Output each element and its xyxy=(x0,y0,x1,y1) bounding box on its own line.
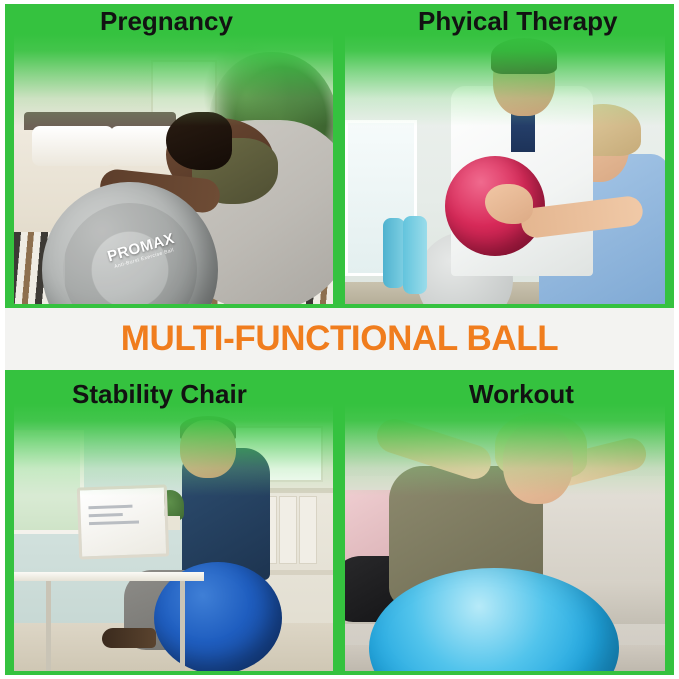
panel-pregnancy: PROMAX Anti-Burst Exercise Ball xyxy=(14,34,333,304)
desk-leg xyxy=(46,581,51,671)
desk-leg xyxy=(180,581,185,671)
product-infographic: PROMAX Anti-Burst Exercise Ball M xyxy=(0,0,679,679)
green-gradient-overlay xyxy=(345,34,665,126)
binder-icon xyxy=(279,496,297,564)
panel-stability-chair: PROMAX Anti-Burst Exercise Ball xyxy=(14,404,333,671)
screen-text-line xyxy=(88,505,132,510)
banner-title: MULTI-FUNCTIONAL BALL xyxy=(121,319,558,359)
green-gradient-overlay xyxy=(345,404,665,496)
man-shoe xyxy=(102,628,156,648)
yoga-mat xyxy=(383,218,405,288)
panel-heading-stability-chair: Stability Chair xyxy=(72,379,247,410)
panel-physical-therapy xyxy=(345,34,665,304)
screen-text-line xyxy=(89,513,123,517)
green-gradient-overlay xyxy=(14,404,333,496)
panel-workout: PROMAX xyxy=(345,404,665,671)
panel-heading-physical-therapy: Phyical Therapy xyxy=(418,6,617,37)
panel-heading-pregnancy: Pregnancy xyxy=(100,6,233,37)
screen-text-line xyxy=(89,520,139,525)
panel-heading-workout: Workout xyxy=(469,379,574,410)
pillow xyxy=(32,126,114,166)
green-gradient-overlay xyxy=(14,34,333,126)
binder-icon xyxy=(299,496,317,564)
yoga-mat xyxy=(403,216,427,294)
desk-top xyxy=(14,572,204,581)
center-banner: MULTI-FUNCTIONAL BALL xyxy=(5,308,674,370)
